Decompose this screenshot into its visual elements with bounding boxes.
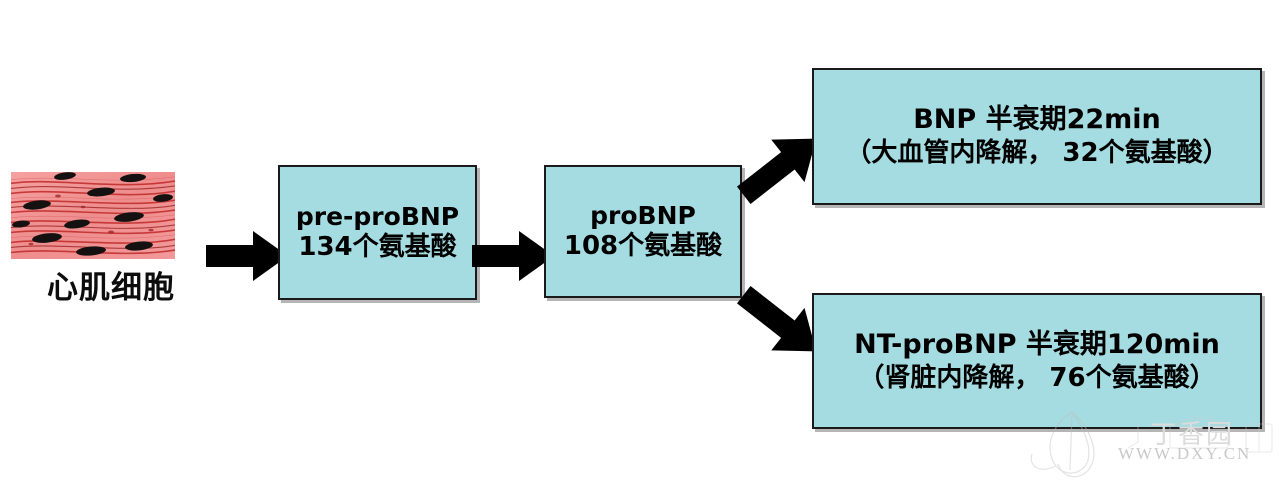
node-nt-probnp-line1: NT-proBNP 半衰期120min: [854, 327, 1220, 362]
node-pre-probnp[interactable]: pre-proBNP 134个氨基酸: [278, 165, 477, 300]
arrow-cell-to-preprobnp-icon: [206, 228, 288, 284]
node-bnp-line1: BNP 半衰期22min: [913, 102, 1161, 137]
arrow-preprobnp-to-probnp-icon: [472, 228, 554, 284]
node-nt-probnp-line2: （肾脏内降解， 76个氨基酸）: [858, 362, 1215, 396]
node-nt-probnp[interactable]: NT-proBNP 半衰期120min （肾脏内降解， 76个氨基酸）: [812, 293, 1262, 429]
node-bnp-line2: （大血管内降解， 32个氨基酸）: [845, 137, 1228, 171]
node-probnp-line1: proBNP: [590, 201, 696, 231]
node-probnp-line2: 108个氨基酸: [564, 231, 722, 262]
node-bnp[interactable]: BNP 半衰期22min （大血管内降解， 32个氨基酸）: [812, 68, 1262, 205]
node-pre-probnp-line1: pre-proBNP: [296, 202, 459, 232]
cardiomyocyte-label: 心肌细胞: [6, 262, 216, 307]
node-pre-probnp-line2: 134个氨基酸: [298, 232, 456, 263]
watermark-url-text: WWW.DXY.CN: [1118, 444, 1251, 464]
diagram-canvas: 心肌细胞 pre-proBNP 134个氨基酸 proBNP 108个氨基酸 B…: [0, 0, 1280, 496]
node-probnp[interactable]: proBNP 108个氨基酸: [544, 165, 742, 298]
cardiomyocyte-histology-image: [11, 172, 175, 259]
histology-svg: [11, 172, 175, 259]
